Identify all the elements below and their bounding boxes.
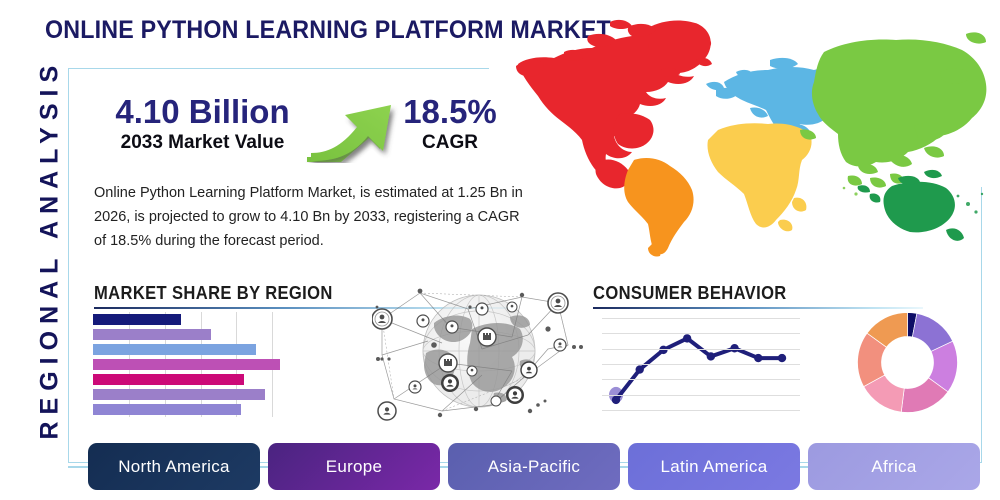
bar-rect (93, 344, 256, 355)
line-gridline (602, 318, 800, 319)
consumer-behavior-heading-rule (593, 307, 923, 309)
line-gridline (602, 349, 800, 350)
region-tab-africa[interactable]: Africa (808, 443, 980, 490)
consumer-behavior-line-chart (602, 310, 800, 418)
line-marker (707, 352, 715, 360)
bar-row (93, 344, 256, 355)
line-marker (754, 354, 762, 362)
bar-row (93, 329, 211, 340)
bar-row (93, 389, 265, 400)
line-marker (683, 334, 691, 342)
line-gridline (602, 364, 800, 365)
line-marker (659, 346, 667, 354)
region-tab-label: North America (118, 457, 230, 477)
bar-row (93, 404, 241, 415)
bar-rect (93, 404, 241, 415)
bar-row (93, 359, 280, 370)
bar-rect (93, 359, 280, 370)
market-description: Online Python Learning Platform Market, … (94, 182, 534, 254)
region-tab-label: Asia-Pacific (488, 457, 580, 477)
section-heading-consumer-behavior: CONSUMER BEHAVIOR (593, 283, 923, 309)
world-map-icon (500, 8, 995, 258)
region-tab-label: Europe (326, 457, 383, 477)
line-gridline (602, 410, 800, 411)
side-label-regional-analysis: REGIONAL ANALYSIS (36, 60, 65, 440)
network-globe-icon (372, 283, 587, 423)
line-marker (636, 365, 644, 373)
bar-rect (93, 374, 244, 385)
line-marker (612, 396, 620, 404)
market-value-stat: 4.10 Billion 2033 Market Value (95, 95, 310, 154)
consumer-behavior-heading-text: CONSUMER BEHAVIOR (593, 283, 897, 304)
region-tab-asia-pacific[interactable]: Asia-Pacific (448, 443, 620, 490)
bar-rect (93, 314, 181, 325)
bar-rect (93, 389, 265, 400)
line-gridline (602, 379, 800, 380)
market-value-number: 4.10 Billion (95, 95, 310, 130)
bar-rect (93, 329, 211, 340)
region-tab-label: Latin America (661, 457, 768, 477)
growth-arrow-icon (305, 83, 425, 163)
bar-row (93, 314, 181, 325)
line-gridline (602, 395, 800, 396)
line-marker (778, 354, 786, 362)
region-tab-label: Africa (871, 457, 916, 477)
region-tab-latin-america[interactable]: Latin America (628, 443, 800, 490)
segment-donut-chart (855, 310, 960, 415)
region-tab-north-america[interactable]: North America (88, 443, 260, 490)
market-share-bar-chart (93, 312, 308, 417)
bar-row (93, 374, 244, 385)
region-tab-europe[interactable]: Europe (268, 443, 440, 490)
line-gridline (602, 333, 800, 334)
region-tabs: North AmericaEuropeAsia-PacificLatin Ame… (80, 443, 980, 490)
market-value-label: 2033 Market Value (95, 131, 310, 155)
